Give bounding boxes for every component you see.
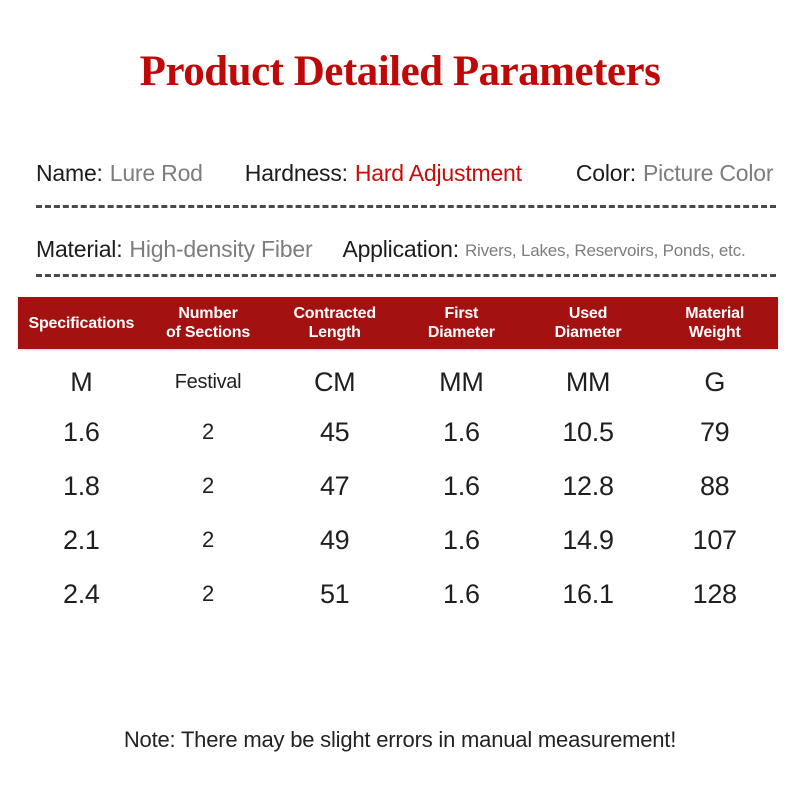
info-row-primary: Name: Lure Rod Hardness: Hard Adjustment… <box>36 160 776 187</box>
cell-material-weight: 107 <box>651 525 778 556</box>
unit-cell-number-of-sections: Festival <box>145 371 272 394</box>
header-line-2: Diameter <box>527 323 650 342</box>
header-line-2: Length <box>273 323 396 342</box>
table-header-cell-number-of-sections: Number of Sections <box>145 304 272 342</box>
table-row: 2.4 2 51 1.6 16.1 128 <box>18 567 778 621</box>
header-line-1: Number <box>178 305 237 322</box>
table-row: 1.6 2 45 1.6 10.5 79 <box>18 405 778 459</box>
cell-used-diameter: 10.5 <box>525 417 652 448</box>
cell-contracted-length: 47 <box>271 471 398 502</box>
cell-material-weight: 128 <box>651 579 778 610</box>
cell-first-diameter: 1.6 <box>398 471 525 502</box>
cell-first-diameter: 1.6 <box>398 417 525 448</box>
cell-number-of-sections: 2 <box>145 527 272 553</box>
header-line-2: of Sections <box>147 323 270 342</box>
info-pair-name: Name: Lure Rod <box>36 160 203 187</box>
table-header-cell-first-diameter: First Diameter <box>398 304 525 342</box>
divider-dashed-bottom <box>36 274 776 277</box>
header-line-1: Used <box>569 305 607 322</box>
cell-used-diameter: 14.9 <box>525 525 652 556</box>
table-header-cell-specifications: Specifications <box>18 314 145 333</box>
cell-used-diameter: 12.8 <box>525 471 652 502</box>
cell-used-diameter: 16.1 <box>525 579 652 610</box>
cell-material-weight: 79 <box>651 417 778 448</box>
table-header-cell-used-diameter: Used Diameter <box>525 304 652 342</box>
cell-number-of-sections: 2 <box>145 419 272 445</box>
header-line-2: Diameter <box>400 323 523 342</box>
cell-contracted-length: 49 <box>271 525 398 556</box>
header-line-2: Weight <box>653 323 776 342</box>
cell-first-diameter: 1.6 <box>398 525 525 556</box>
specifications-table: Specifications Number of Sections Contra… <box>18 297 778 621</box>
divider-dashed-top <box>36 205 776 208</box>
header-line-1: First <box>445 305 479 322</box>
cell-specification: 2.1 <box>18 525 145 556</box>
info-value-name: Lure Rod <box>110 160 203 187</box>
info-label-hardness: Hardness: <box>245 160 348 187</box>
info-label-name: Name: <box>36 160 103 187</box>
unit-cell-used-diameter: MM <box>525 367 652 398</box>
cell-specification: 1.6 <box>18 417 145 448</box>
cell-specification: 2.4 <box>18 579 145 610</box>
table-header-row: Specifications Number of Sections Contra… <box>18 297 778 349</box>
header-line-1: Contracted <box>293 305 375 322</box>
info-pair-color: Color: Picture Color <box>576 160 774 187</box>
unit-cell-contracted-length: CM <box>271 367 398 398</box>
info-label-application: Application: <box>342 236 459 263</box>
unit-cell-specifications: M <box>18 367 145 398</box>
measurement-note: Note: There may be slight errors in manu… <box>0 727 800 753</box>
table-row: 2.1 2 49 1.6 14.9 107 <box>18 513 778 567</box>
cell-specification: 1.8 <box>18 471 145 502</box>
info-pair-hardness: Hardness: Hard Adjustment <box>245 160 522 187</box>
page-title: Product Detailed Parameters <box>0 47 800 96</box>
unit-cell-material-weight: G <box>651 367 778 398</box>
cell-contracted-length: 51 <box>271 579 398 610</box>
table-header-cell-material-weight: Material Weight <box>651 304 778 342</box>
cell-first-diameter: 1.6 <box>398 579 525 610</box>
info-label-color: Color: <box>576 160 636 187</box>
info-value-hardness: Hard Adjustment <box>355 160 522 187</box>
info-value-color: Picture Color <box>643 160 773 187</box>
info-pair-application: Application: Rivers, Lakes, Reservoirs, … <box>342 236 745 263</box>
info-row-secondary: Material: High-density Fiber Application… <box>36 236 776 263</box>
info-label-material: Material: <box>36 236 122 263</box>
cell-number-of-sections: 2 <box>145 473 272 499</box>
table-header-cell-contracted-length: Contracted Length <box>271 304 398 342</box>
header-line-1: Specifications <box>28 315 134 332</box>
header-line-1: Material <box>685 305 744 322</box>
info-value-application: Rivers, Lakes, Reservoirs, Ponds, etc. <box>465 241 746 261</box>
table-row: 1.8 2 47 1.6 12.8 88 <box>18 459 778 513</box>
table-row-units: M Festival CM MM MM G <box>18 359 778 405</box>
cell-material-weight: 88 <box>651 471 778 502</box>
unit-cell-first-diameter: MM <box>398 367 525 398</box>
product-parameters-page: Product Detailed Parameters Name: Lure R… <box>0 0 800 800</box>
info-value-material: High-density Fiber <box>129 236 312 263</box>
info-pair-material: Material: High-density Fiber <box>36 236 312 263</box>
cell-contracted-length: 45 <box>271 417 398 448</box>
table-body: M Festival CM MM MM G 1.6 2 45 1.6 10.5 … <box>18 359 778 621</box>
cell-number-of-sections: 2 <box>145 581 272 607</box>
